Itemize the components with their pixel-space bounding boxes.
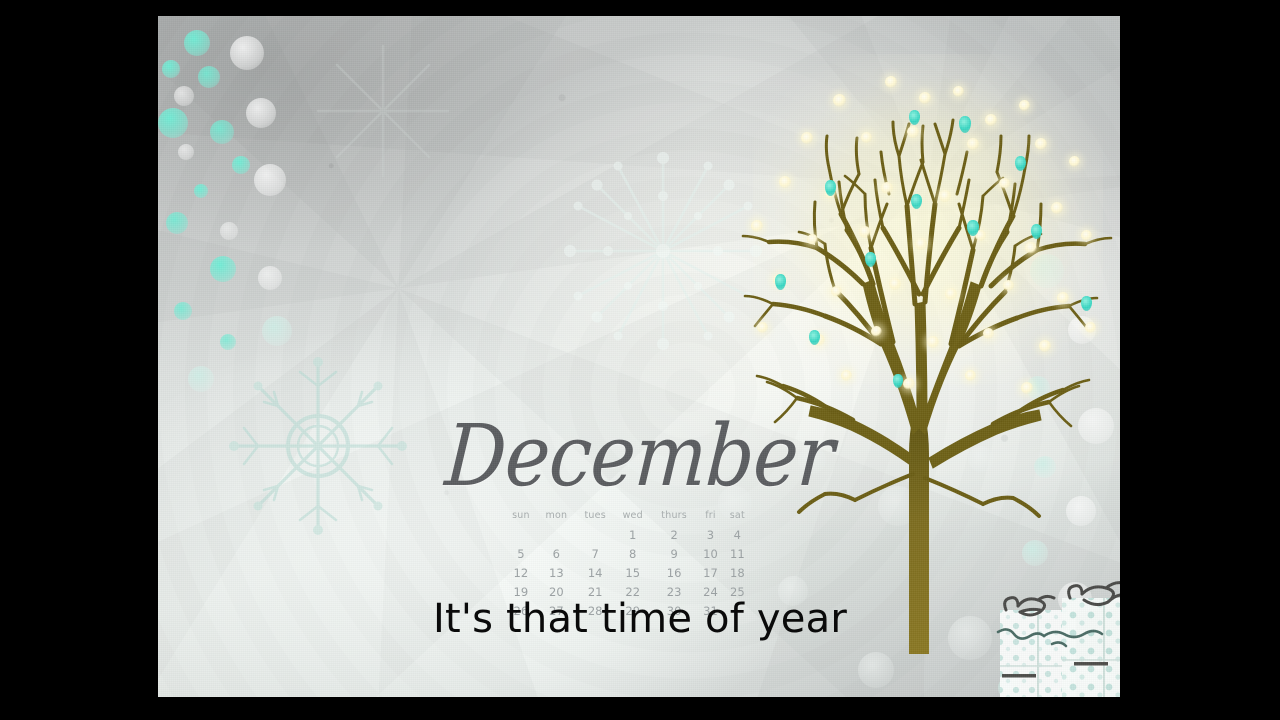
letterbox-bar-right	[1120, 0, 1280, 720]
video-player-screen: December sun mon tues wed thurs fri sat	[0, 0, 1280, 720]
video-frame: December sun mon tues wed thurs fri sat	[158, 16, 1120, 697]
letterbox-bar-left	[0, 0, 158, 720]
subtitle-text: It's that time of year	[0, 596, 1280, 642]
letterbox-bar-top	[0, 0, 1280, 16]
film-grain-overlay	[158, 16, 1120, 697]
letterbox-bar-bottom	[0, 697, 1280, 720]
